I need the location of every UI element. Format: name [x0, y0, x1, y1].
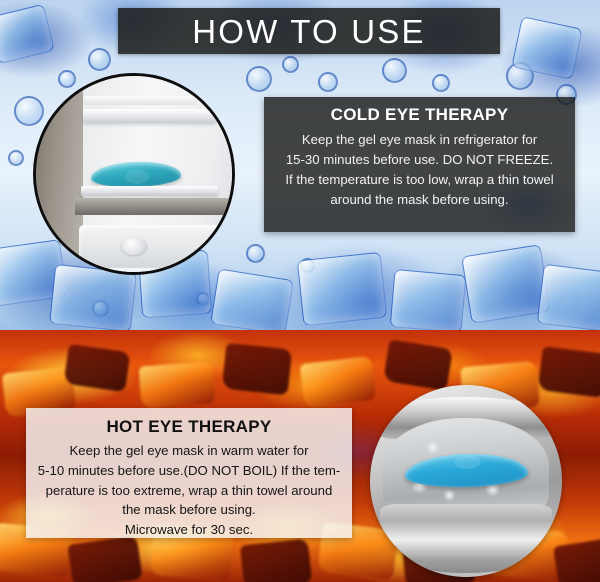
cold-therapy-line: around the mask before using. — [285, 190, 553, 210]
hot-therapy-panel: HOT EYE THERAPY Keep the gel eye mask in… — [26, 408, 352, 538]
fridge-divider — [75, 198, 232, 216]
ember-icon — [64, 344, 131, 392]
water-bubble-icon — [8, 150, 24, 166]
ember-icon — [222, 343, 292, 396]
ember-icon — [67, 535, 142, 582]
ice-cube-icon — [297, 252, 387, 326]
ember-icon — [240, 539, 312, 582]
cold-therapy-line: Keep the gel eye mask in refrigerator fo… — [285, 130, 553, 150]
cold-therapy-line: 15-30 minutes before use. DO NOT FREEZE. — [285, 150, 553, 170]
ice-cube-icon — [390, 269, 467, 330]
cold-therapy-body: Keep the gel eye mask in refrigerator fo… — [279, 130, 559, 210]
refrigerator-photo-content — [36, 76, 232, 272]
fridge-shelf-top — [83, 109, 216, 123]
hot-therapy-heading: HOT EYE THERAPY — [106, 417, 271, 437]
hot-therapy-line: Microwave for 30 sec. — [38, 520, 340, 540]
cold-therapy-panel: COLD EYE THERAPY Keep the gel eye mask i… — [264, 97, 575, 232]
cold-therapy-heading: COLD EYE THERAPY — [331, 105, 509, 125]
water-bubble-icon — [246, 66, 272, 92]
water-bubble-icon — [88, 48, 111, 71]
ember-icon — [300, 356, 377, 408]
ice-cube-icon — [0, 4, 55, 65]
fridge-shelf-main — [81, 186, 218, 196]
fridge-shelf-lip — [83, 96, 197, 106]
hot-therapy-line: the mask before using. — [38, 500, 340, 520]
ember-icon — [383, 339, 453, 390]
hot-therapy-body: Keep the gel eye mask in warm water for … — [35, 441, 343, 540]
header-banner: HOW TO USE — [118, 8, 500, 54]
fridge-knob — [121, 237, 147, 255]
cold-therapy-line: If the temperature is too low, wrap a th… — [285, 170, 553, 190]
water-bubble-icon — [382, 58, 407, 83]
hot-therapy-line: 5-10 minutes before use.(DO NOT BOIL) If… — [38, 461, 340, 481]
ember-icon — [538, 346, 600, 398]
water-bubble-icon — [318, 72, 338, 92]
cold-therapy-section: HOW TO USE COLD EYE THERAPY Keep the gel… — [0, 0, 600, 330]
ember-icon — [139, 361, 216, 408]
how-to-use-infographic: HOW TO USE COLD EYE THERAPY Keep the gel… — [0, 0, 600, 582]
boiling-pot-photo — [370, 385, 562, 577]
hot-therapy-section: HOT EYE THERAPY Keep the gel eye mask in… — [0, 330, 600, 582]
hot-therapy-line: Keep the gel eye mask in warm water for — [38, 441, 340, 461]
page-title: HOW TO USE — [192, 15, 425, 48]
ice-cube-icon — [210, 268, 294, 330]
refrigerator-photo — [33, 73, 235, 275]
hot-therapy-line: perature is too extreme, wrap a thin tow… — [38, 481, 340, 501]
fridge-side-panel — [36, 76, 83, 272]
water-bubble-icon — [246, 244, 265, 263]
ice-cube-icon — [537, 264, 600, 330]
water-bubble-icon — [282, 56, 299, 73]
fridge-drawer — [79, 225, 220, 268]
water-bubble-icon — [432, 74, 450, 92]
